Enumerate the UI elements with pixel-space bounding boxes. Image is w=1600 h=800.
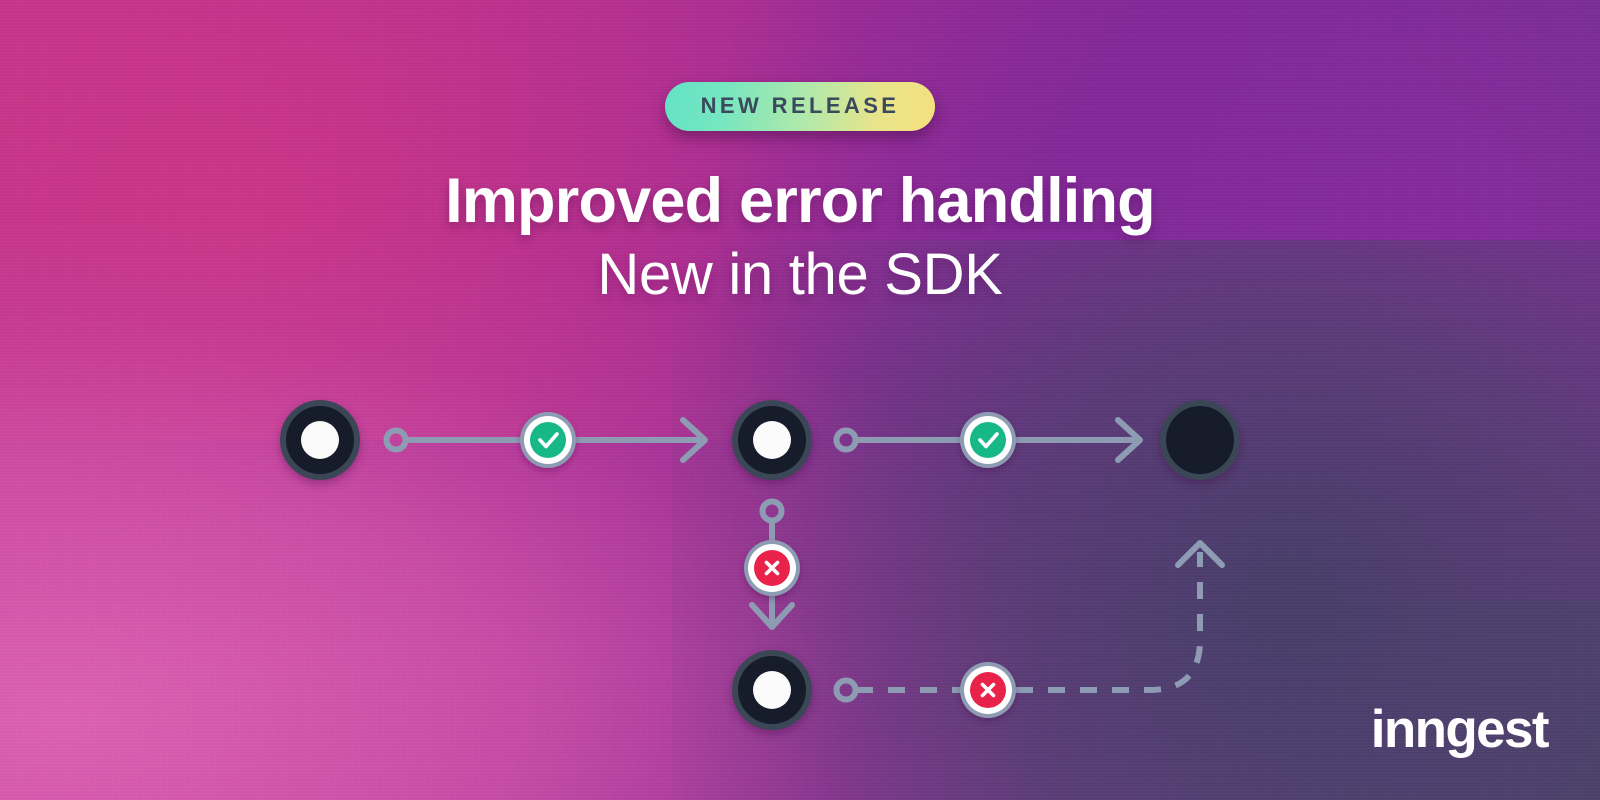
workflow-node-start[interactable] — [280, 400, 360, 480]
badge-fill — [970, 422, 1006, 458]
workflow-node-end[interactable] — [1160, 400, 1240, 480]
inngest-logo: inngest — [1371, 703, 1548, 756]
workflow-node-middle[interactable] — [732, 400, 812, 480]
node-center-dot — [753, 671, 791, 709]
error-cross-badge[interactable] — [960, 662, 1016, 718]
success-check-badge[interactable] — [960, 412, 1016, 468]
header: NEW RELEASE Improved error handling New … — [0, 0, 1600, 306]
edge-source-dot — [837, 681, 856, 700]
badge-fill — [530, 422, 566, 458]
edge-source-dot — [763, 502, 782, 521]
edge-source-dot — [387, 431, 406, 450]
success-check-badge[interactable] — [520, 412, 576, 468]
page-title: Improved error handling — [0, 169, 1600, 233]
node-center-dot — [753, 421, 791, 459]
edge-retry-to-end — [837, 543, 1223, 700]
edge-source-dot — [837, 431, 856, 450]
node-center-dot — [301, 421, 339, 459]
node-core — [1166, 406, 1234, 474]
error-cross-badge[interactable] — [744, 540, 800, 596]
page-subtitle: New in the SDK — [0, 245, 1600, 306]
workflow-node-retry[interactable] — [732, 650, 812, 730]
edge-dashed-path — [856, 552, 1200, 690]
new-release-badge: NEW RELEASE — [665, 82, 936, 131]
